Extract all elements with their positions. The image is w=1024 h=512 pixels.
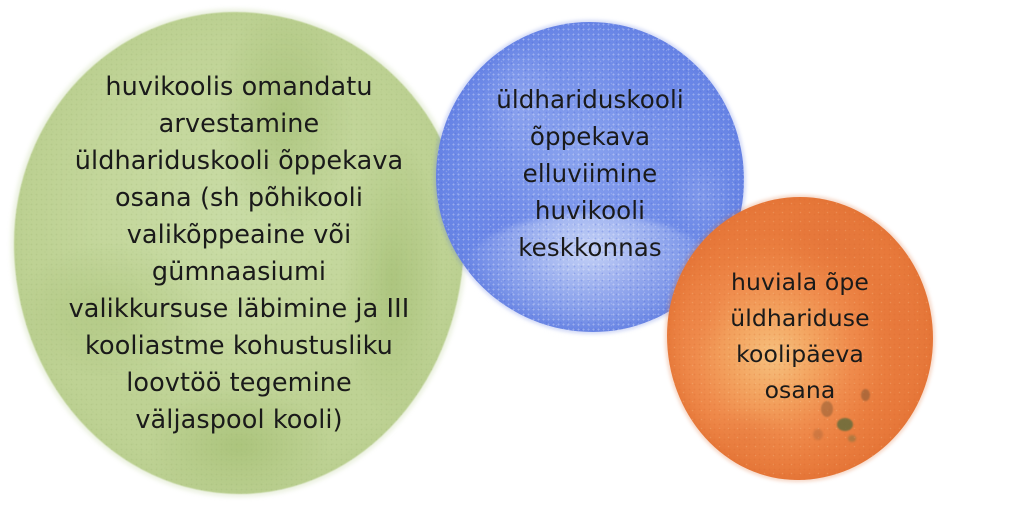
green-blob-label: huvikoolis omandatu arvestamine üldharid… bbox=[39, 69, 439, 439]
orange-paint-speckle bbox=[837, 418, 853, 431]
orange-blob-label: huviala õpe üldhariduse koolipäeva osana bbox=[705, 264, 895, 408]
diagram-canvas: huvikoolis omandatu arvestamine üldharid… bbox=[0, 0, 1024, 512]
orange-paint-speckle bbox=[848, 435, 856, 442]
green-watercolor-blob: huvikoolis omandatu arvestamine üldharid… bbox=[14, 12, 464, 494]
orange-watercolor-blob: huviala õpe üldhariduse koolipäeva osana bbox=[667, 197, 933, 480]
